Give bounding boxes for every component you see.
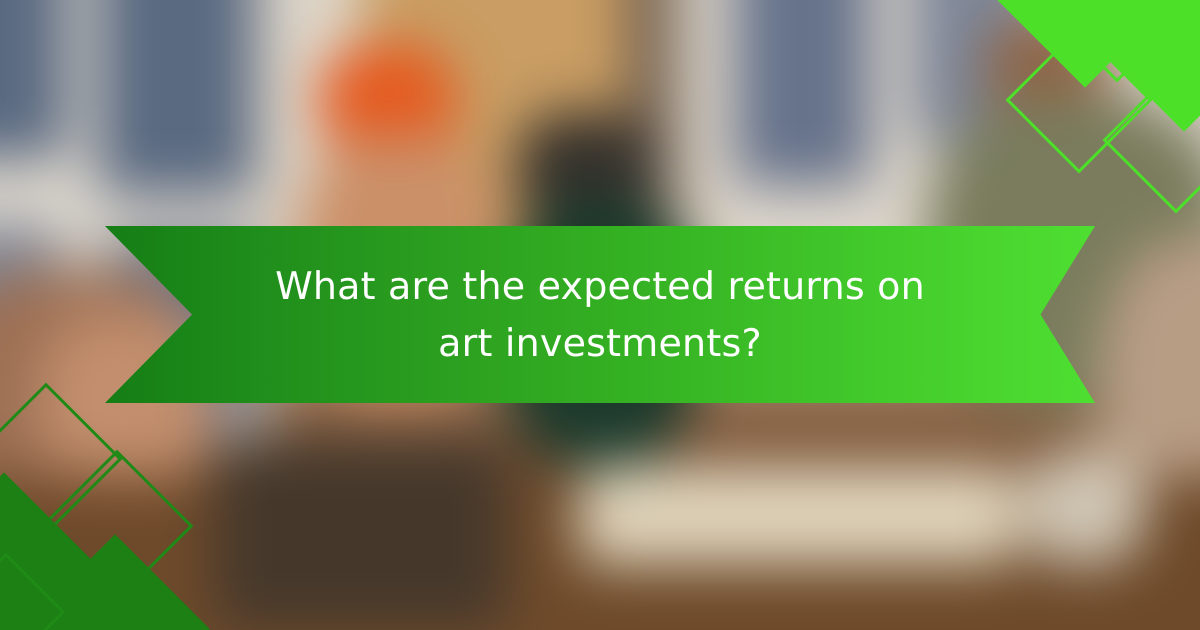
photo-cup	[1021, 450, 1146, 564]
ribbon-banner: What are the expected returns on art inv…	[105, 226, 1095, 403]
photo-window-pane-1	[0, 0, 68, 159]
photo-papers	[579, 466, 1016, 565]
photo-window-pane-2	[99, 0, 255, 195]
photo-window-pane-5	[735, 0, 870, 185]
social-card: What are the expected returns on art inv…	[0, 0, 1200, 630]
photo-laptop	[215, 440, 506, 627]
banner-title: What are the expected returns on art inv…	[270, 258, 930, 372]
